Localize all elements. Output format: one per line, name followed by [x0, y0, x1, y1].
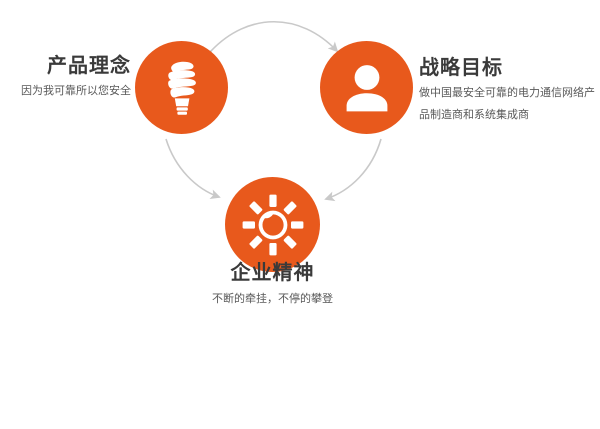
product-title: 产品理念: [0, 55, 131, 78]
strategy-description-line-2: 品制造商和系统集成商: [419, 107, 600, 124]
strategy-title: 战略目标: [419, 57, 600, 80]
spirit-description: 不断的牵挂，不停的攀登: [162, 291, 383, 308]
node-circle-strategy[interactable]: [320, 41, 413, 134]
connector-product-strategy: [211, 22, 337, 51]
label-block-spirit: 企业精神 不断的牵挂，不停的攀登: [162, 262, 383, 308]
label-block-strategy: 战略目标 做中国最安全可靠的电力通信网络产 品制造商和系统集成商: [419, 57, 600, 124]
culture-diagram: 产品理念 因为我可靠所以您安全 战略目标 做中国最安全可靠的电力通信网络产 品制…: [0, 0, 600, 429]
node-circle-product[interactable]: [135, 41, 228, 134]
connector-strategy-spirit: [326, 139, 381, 199]
spiral-bulb-icon: [159, 59, 205, 117]
spirit-title: 企业精神: [162, 262, 383, 285]
product-description: 因为我可靠所以您安全: [0, 83, 131, 100]
sun-icon: [242, 194, 304, 256]
connector-product-spirit: [166, 139, 219, 197]
label-block-product: 产品理念 因为我可靠所以您安全: [0, 55, 131, 100]
node-circle-spirit[interactable]: [225, 177, 320, 272]
strategy-description-line-1: 做中国最安全可靠的电力通信网络产: [419, 85, 600, 102]
person-icon: [341, 63, 393, 113]
